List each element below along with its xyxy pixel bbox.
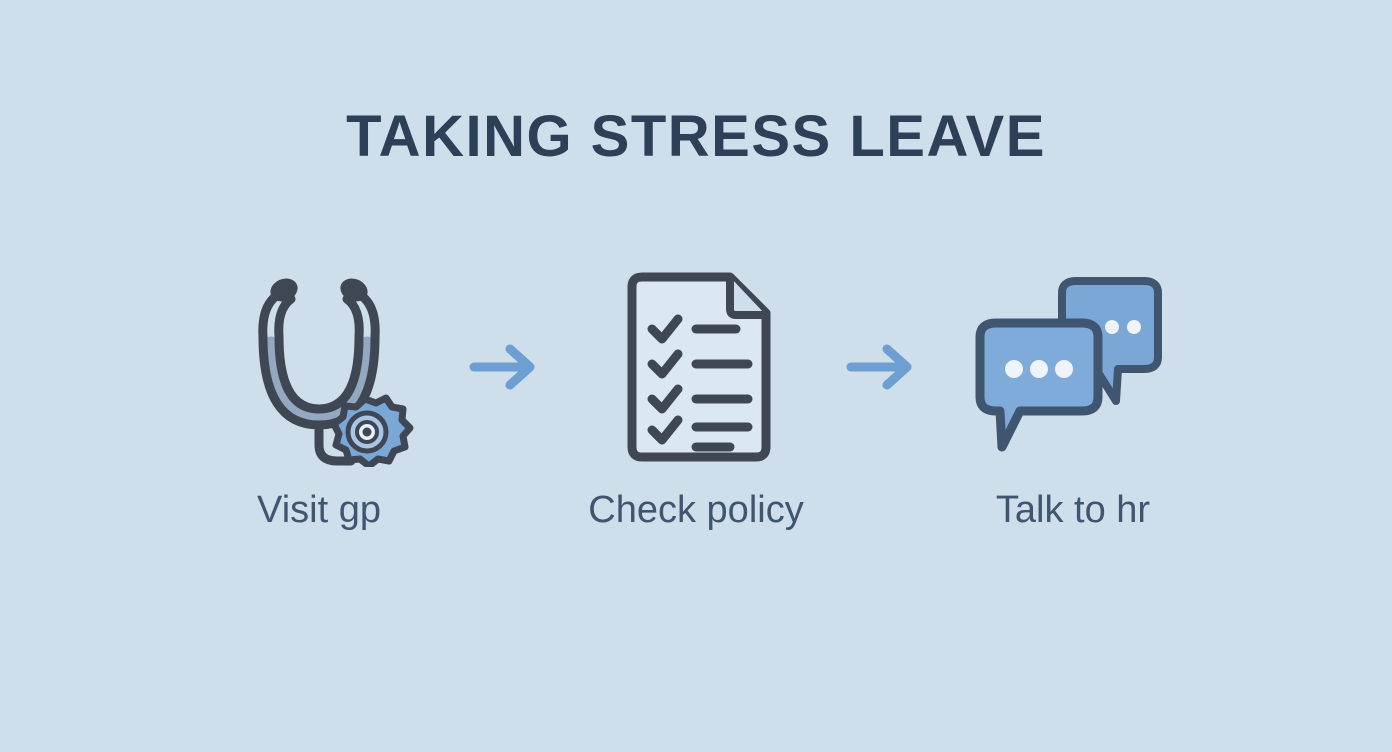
step-label-check-policy: Check policy [588, 490, 803, 532]
speech-bubbles-icon [950, 262, 1196, 472]
stethoscope-icon [196, 262, 442, 472]
step-talk-to-hr: Talk to hr [950, 262, 1196, 532]
page-title: TAKING STRESS LEAVE [0, 108, 1392, 166]
step-label-talk-to-hr: Talk to hr [996, 490, 1150, 532]
checklist-document-icon [573, 262, 819, 472]
arrow-right-icon [453, 262, 563, 472]
arrow-right-icon-2 [830, 262, 940, 472]
step-visit-gp: Visit gp [196, 262, 442, 532]
poster-canvas: TAKING STRESS LEAVE [0, 0, 1392, 752]
step-check-policy: Check policy [573, 262, 819, 532]
process-flow: Visit gp [196, 262, 1196, 562]
step-label-visit-gp: Visit gp [257, 490, 381, 532]
